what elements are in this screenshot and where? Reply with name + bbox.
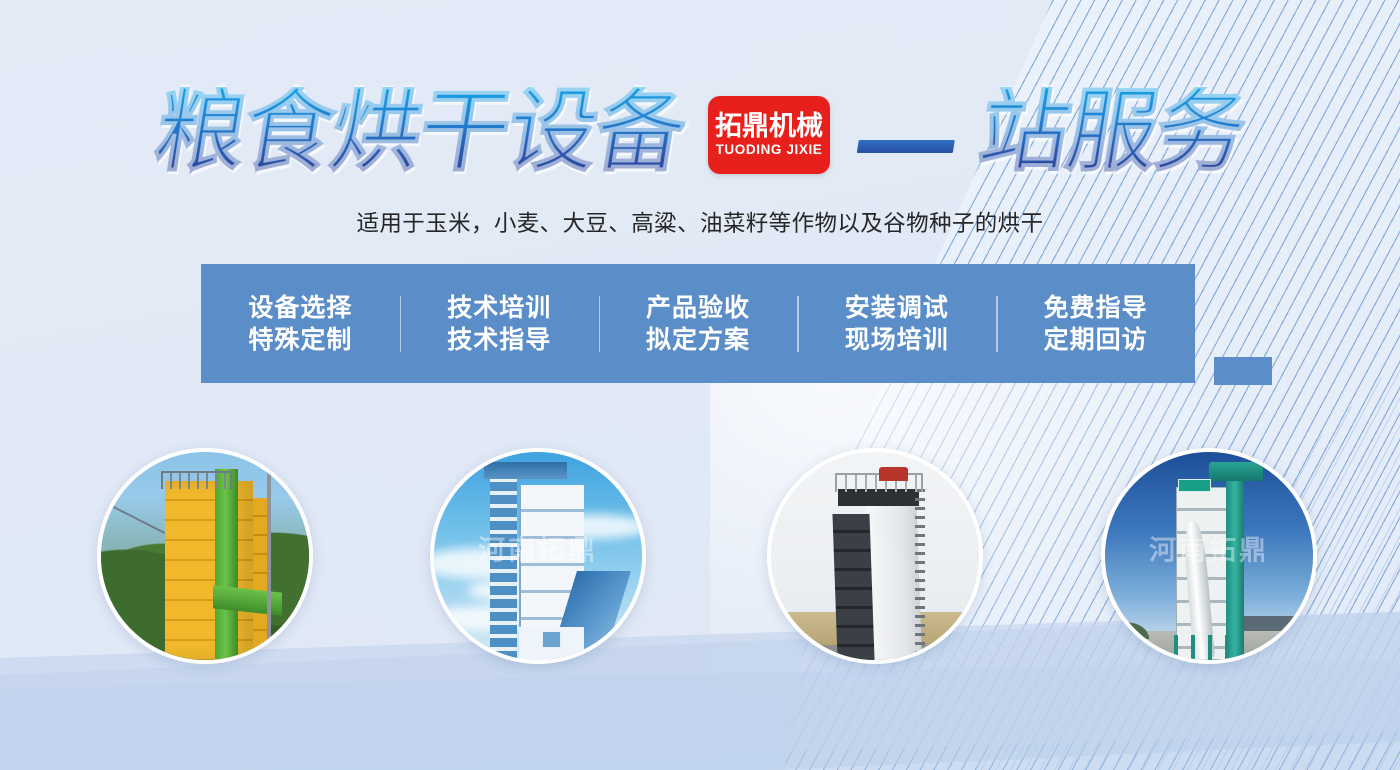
dryer-body bbox=[866, 489, 922, 660]
dryer-ducting bbox=[833, 514, 876, 660]
headline-primary-text: 粮食烘干设备 bbox=[149, 87, 691, 177]
tree-line bbox=[1109, 618, 1155, 639]
subtitle: 适用于玉米，小麦、大豆、高粱、油菜籽等作物以及谷物种子的烘干 bbox=[0, 206, 1400, 238]
product-photo-3[interactable] bbox=[767, 448, 983, 664]
feature-item-4-line2: 现场培训 bbox=[845, 327, 949, 352]
feature-item-1-line1: 设备选择 bbox=[248, 295, 352, 320]
roof-equipment bbox=[879, 467, 908, 482]
product-photo-4[interactable]: 河南拓鼎 bbox=[1101, 448, 1317, 664]
product-photo-1[interactable] bbox=[97, 448, 313, 664]
feature-item-5[interactable]: 免费指导 定期回访 bbox=[996, 295, 1195, 352]
bottom-band-back bbox=[0, 658, 1400, 770]
photo-3-scene bbox=[771, 452, 979, 660]
photo-2-watermark: 河南拓鼎 bbox=[434, 528, 642, 567]
dryer-body-front bbox=[165, 481, 252, 660]
roof-platform bbox=[484, 462, 567, 479]
feature-item-2-line2: 技术指导 bbox=[447, 327, 551, 352]
headline-secondary-text: 站服务 bbox=[973, 87, 1251, 177]
feature-item-4-line1: 安装调试 bbox=[845, 295, 949, 320]
brand-name-pinyin: TUODING JIXIE bbox=[716, 143, 823, 157]
feature-item-3[interactable]: 产品验收 拟定方案 bbox=[599, 295, 798, 352]
feature-item-5-line2: 定期回访 bbox=[1044, 327, 1148, 352]
brand-sign bbox=[1178, 479, 1211, 491]
feature-item-3-line2: 拟定方案 bbox=[646, 327, 750, 352]
headline: 粮食烘干设备 拓鼎机械 TUODING JIXIE 站服务 bbox=[0, 78, 1400, 186]
feature-item-4[interactable]: 安装调试 现场培训 bbox=[797, 295, 996, 352]
photo-4-watermark: 河南拓鼎 bbox=[1105, 528, 1313, 567]
photo-1-scene bbox=[101, 452, 309, 660]
dryer-top-section bbox=[838, 489, 919, 506]
product-photo-2[interactable]: 河南拓鼎 bbox=[430, 448, 646, 664]
elevator-column bbox=[215, 469, 238, 660]
feature-item-3-line1: 产品验收 bbox=[646, 295, 750, 320]
support-legs bbox=[1174, 635, 1232, 660]
feature-item-1[interactable]: 设备选择 特殊定制 bbox=[201, 295, 400, 352]
utility-pole bbox=[267, 452, 271, 660]
feature-item-2-line1: 技术培训 bbox=[447, 295, 551, 320]
brand-name-chinese: 拓鼎机械 bbox=[715, 113, 823, 140]
service-ladder bbox=[915, 489, 925, 660]
roof-equipment bbox=[1209, 462, 1263, 481]
control-panel bbox=[542, 631, 561, 648]
feature-item-5-line1: 免费指导 bbox=[1044, 295, 1148, 320]
brand-logo-badge: 拓鼎机械 TUODING JIXIE bbox=[708, 96, 830, 174]
roof-railing bbox=[161, 471, 232, 490]
accent-block bbox=[1214, 357, 1272, 385]
promo-banner: 粮食烘干设备 拓鼎机械 TUODING JIXIE 站服务 适用于玉米，小麦、大… bbox=[0, 0, 1400, 770]
feature-item-1-line2: 特殊定制 bbox=[248, 327, 352, 352]
feature-item-2[interactable]: 技术培训 技术指导 bbox=[400, 295, 599, 352]
dash-stroke-icon bbox=[857, 140, 955, 153]
feature-bar: 设备选择 特殊定制 技术培训 技术指导 产品验收 拟定方案 安装调试 现场培训 … bbox=[201, 264, 1195, 383]
